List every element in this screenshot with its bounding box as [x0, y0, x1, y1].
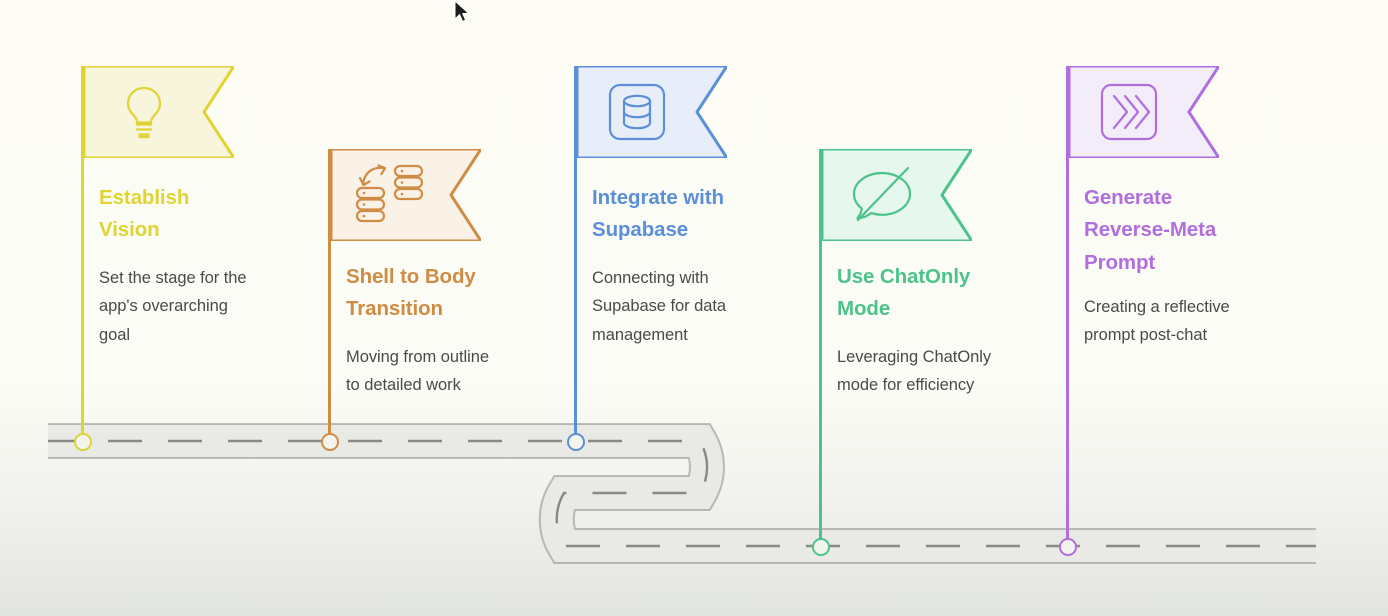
milestone-flag[interactable]	[84, 66, 234, 158]
milestone-marker-dot[interactable]	[1059, 538, 1077, 556]
milestone-title: Generate Reverse-Meta Prompt	[1084, 182, 1294, 279]
milestone-marker-dot[interactable]	[74, 433, 92, 451]
milestone-flag[interactable]	[822, 149, 972, 241]
data-transfer-icon	[331, 149, 451, 241]
chat-disabled-icon	[822, 149, 942, 241]
milestone-flag[interactable]	[577, 66, 727, 158]
milestone-description: Moving from outline to detailed work	[346, 343, 546, 400]
milestone-flag[interactable]	[1069, 66, 1219, 158]
milestone-description: Leveraging ChatOnly mode for efficiency	[837, 343, 1042, 400]
milestone-marker-dot[interactable]	[321, 433, 339, 451]
database-icon	[577, 66, 697, 158]
milestone-description: Set the stage for the app's overarching …	[99, 264, 299, 349]
milestone-description: Creating a reflective prompt post-chat	[1084, 293, 1294, 350]
milestone-title: Shell to Body Transition	[346, 261, 546, 326]
milestone-title: Establish Vision	[99, 182, 299, 247]
milestone-marker-dot[interactable]	[567, 433, 585, 451]
milestone-title: Use ChatOnly Mode	[837, 261, 1042, 326]
roadmap-diagram: Establish VisionSet the stage for the ap…	[0, 0, 1388, 616]
milestone-marker-dot[interactable]	[812, 538, 830, 556]
lightbulb-icon	[84, 66, 204, 158]
milestone-description: Connecting with Supabase for data manage…	[592, 264, 792, 349]
milestone-flag[interactable]	[331, 149, 481, 241]
triple-chevron-icon	[1069, 66, 1189, 158]
milestone-title: Integrate with Supabase	[592, 182, 792, 247]
